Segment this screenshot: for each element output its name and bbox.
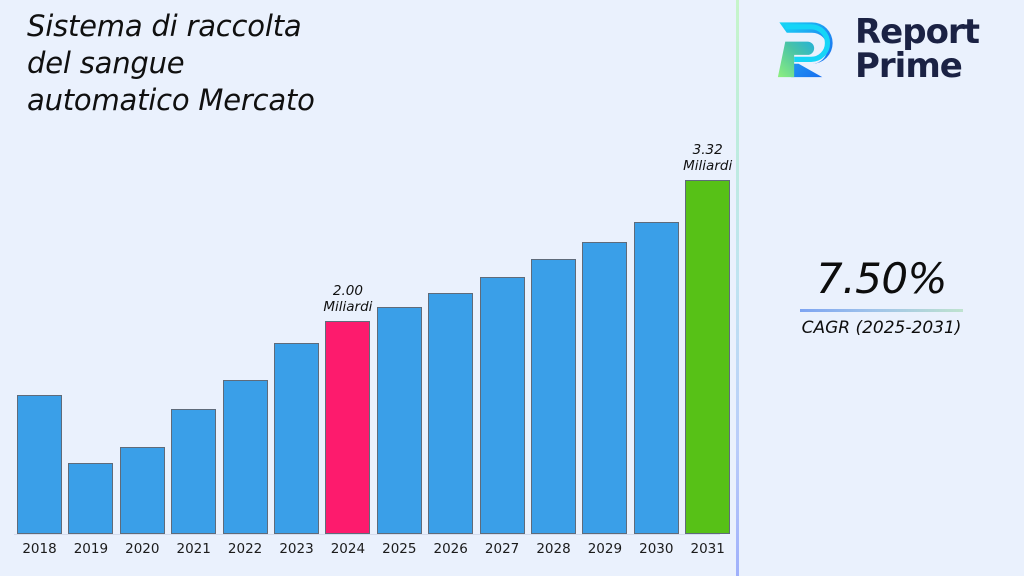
chart-panel: Sistema di raccolta del sangue automatic… xyxy=(0,0,737,576)
x-axis-tick-2020: 2020 xyxy=(117,541,168,557)
x-axis-tick-2021: 2021 xyxy=(168,541,219,557)
bar-2029 xyxy=(582,242,627,534)
cagr-divider-rule xyxy=(800,309,963,312)
x-axis-line xyxy=(14,534,720,535)
report-prime-logo-icon xyxy=(769,12,843,86)
x-axis-tick-2031: 2031 xyxy=(682,541,733,557)
bar-2021 xyxy=(171,409,216,534)
bar-2019 xyxy=(68,463,113,534)
bar-2028 xyxy=(531,259,576,534)
brand-logo: Report Prime xyxy=(769,12,979,86)
bar-2024 xyxy=(325,321,370,534)
bar-chart-plot: 2018201920202021202220232.00 Miliardi202… xyxy=(0,0,737,576)
bar-2030 xyxy=(634,222,679,534)
bar-2018 xyxy=(17,395,62,534)
cagr-caption: CAGR (2025-2031) xyxy=(739,317,1024,339)
x-axis-tick-2019: 2019 xyxy=(65,541,116,557)
brand-wordmark: Report Prime xyxy=(855,15,979,83)
infographic-canvas: Sistema di raccolta del sangue automatic… xyxy=(0,0,1024,576)
bar-2027 xyxy=(480,277,525,534)
cagr-callout: 7.50% CAGR (2025-2031) xyxy=(739,255,1024,339)
cagr-value: 7.50% xyxy=(739,255,1024,303)
bar-2031 xyxy=(685,180,730,534)
summary-panel: Report Prime 7.50% CAGR (2025-2031) xyxy=(739,0,1024,576)
x-axis-tick-2026: 2026 xyxy=(425,541,476,557)
bar-2022 xyxy=(223,380,268,534)
x-axis-tick-2028: 2028 xyxy=(528,541,579,557)
x-axis-tick-2029: 2029 xyxy=(579,541,630,557)
bar-2020 xyxy=(120,447,165,534)
x-axis-tick-2027: 2027 xyxy=(477,541,528,557)
bar-2023 xyxy=(274,343,319,534)
bar-2025 xyxy=(377,307,422,534)
x-axis-tick-2023: 2023 xyxy=(271,541,322,557)
bar-2026 xyxy=(428,293,473,534)
x-axis-tick-2025: 2025 xyxy=(374,541,425,557)
x-axis-tick-2024: 2024 xyxy=(322,541,373,557)
x-axis-tick-2018: 2018 xyxy=(14,541,65,557)
x-axis-tick-2022: 2022 xyxy=(220,541,271,557)
x-axis-tick-2030: 2030 xyxy=(631,541,682,557)
